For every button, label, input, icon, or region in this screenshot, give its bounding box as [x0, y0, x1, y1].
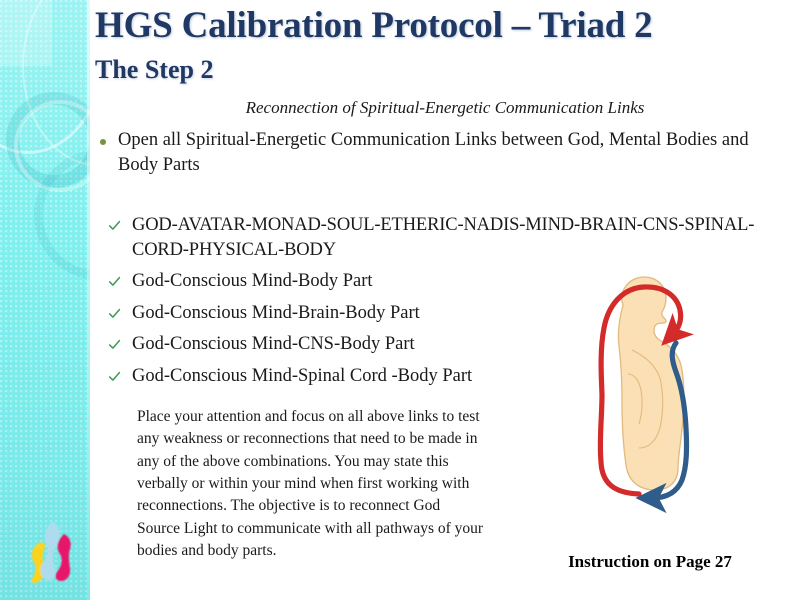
sidebar-right-edge: [87, 0, 90, 600]
bullet-dot-icon: [100, 139, 106, 145]
list-item-label: God-Conscious Mind-Body Part: [132, 269, 373, 294]
slide-canvas: HGS Calibration Protocol – Triad 2 The S…: [0, 0, 800, 600]
human-body-energy-loop-figure: [560, 262, 800, 542]
instruction-paragraph: Place your attention and focus on all ab…: [137, 406, 487, 562]
body-silhouette: [618, 277, 684, 490]
sidebar-gradient-sheen: [0, 0, 90, 600]
list-item-label: GOD-AVATAR-MONAD-SOUL-ETHERIC-NADIS-MIND…: [132, 213, 780, 262]
tri-color-flame-logo: [18, 516, 80, 588]
check-icon: [108, 338, 121, 351]
list-item-label: God-Conscious Mind-Brain-Body Part: [132, 301, 420, 326]
page-subtitle: The Step 2: [95, 56, 213, 84]
check-icon: [108, 275, 121, 288]
check-icon: [108, 370, 121, 383]
decorative-sidebar: [0, 0, 90, 600]
list-item-label: God-Conscious Mind-Spinal Cord -Body Par…: [132, 364, 472, 389]
check-icon: [108, 307, 121, 320]
list-item: GOD-AVATAR-MONAD-SOUL-ETHERIC-NADIS-MIND…: [108, 213, 780, 262]
lead-bullet-item: Open all Spiritual-Energetic Communicati…: [100, 128, 765, 177]
figure-caption: Instruction on Page 27: [500, 552, 800, 572]
check-icon: [108, 219, 121, 232]
list-item-label: God-Conscious Mind-CNS-Body Part: [132, 332, 415, 357]
page-tagline: Reconnection of Spiritual-Energetic Comm…: [95, 98, 795, 118]
lead-bullet-text: Open all Spiritual-Energetic Communicati…: [118, 128, 765, 177]
page-title: HGS Calibration Protocol – Triad 2: [95, 6, 785, 46]
